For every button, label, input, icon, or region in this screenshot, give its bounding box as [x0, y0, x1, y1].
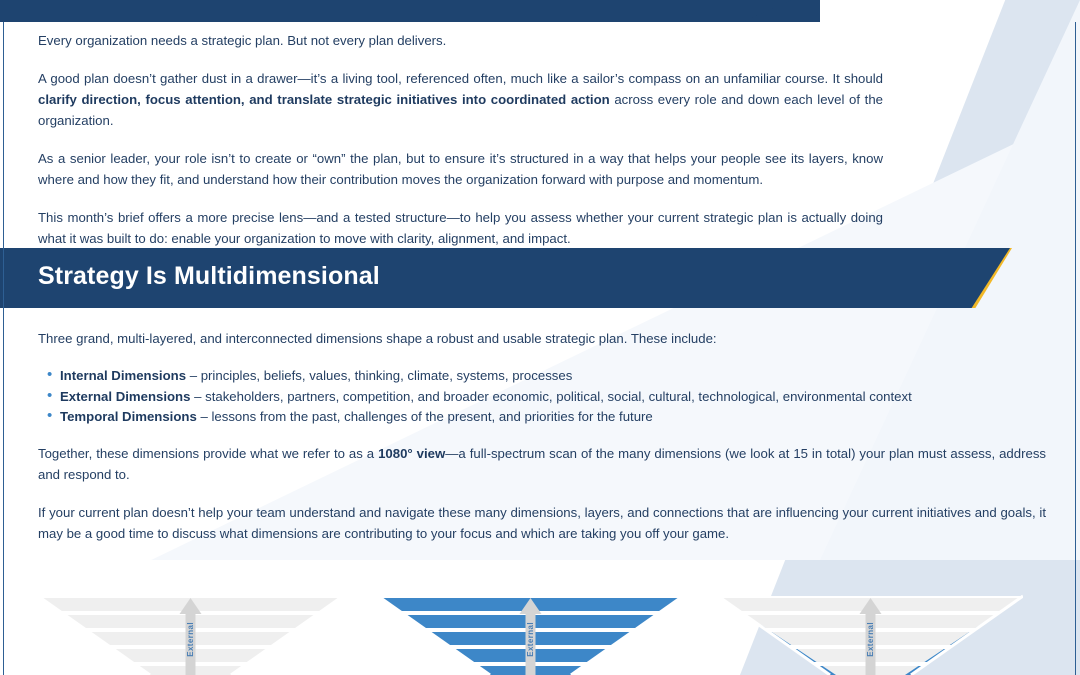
section-lead-paragraph: Three grand, multi-layered, and intercon… [38, 328, 1046, 349]
document-page: Every organization needs a strategic pla… [0, 0, 1080, 675]
dimension-item: Internal Dimensions – principles, belief… [60, 366, 1046, 386]
dimension-item: Temporal Dimensions – lessons from the p… [60, 407, 1046, 427]
emphasis-text: 1080° view [378, 446, 445, 461]
body-text: A good plan doesn’t gather dust in a dra… [38, 71, 883, 86]
dimension-detail: – lessons from the past, challenges of t… [197, 409, 653, 424]
body-text: If your current plan doesn’t help your t… [38, 505, 1046, 541]
arrow-label: External [526, 622, 535, 657]
section-title: Strategy Is Multidimensional [38, 262, 380, 291]
section-body: Three grand, multi-layered, and intercon… [38, 328, 1046, 561]
diagram-internal: External [38, 588, 343, 675]
diagram-layers: External [378, 588, 683, 675]
dimension-label: Internal Dimensions [60, 368, 186, 383]
arrow-label: External [186, 622, 195, 657]
paragraph: As a senior leader, your role isn’t to c… [38, 148, 883, 190]
intro-copy: Every organization needs a strategic pla… [38, 30, 883, 249]
section-closing-copy: Together, these dimensions provide what … [38, 443, 1046, 544]
paragraph: If your current plan doesn’t help your t… [38, 502, 1046, 544]
dimension-detail: – stakeholders, partners, competition, a… [190, 389, 911, 404]
body-text: Together, these dimensions provide what … [38, 446, 378, 461]
arrow-label: External [866, 622, 875, 657]
body-text: As a senior leader, your role isn’t to c… [38, 151, 883, 187]
diagram-wedges: External [718, 588, 1023, 675]
paragraph: A good plan doesn’t gather dust in a dra… [38, 68, 883, 131]
dimension-detail: – principles, beliefs, values, thinking,… [186, 368, 572, 383]
paragraph: Together, these dimensions provide what … [38, 443, 1046, 485]
paragraph: This month’s brief offers a more precise… [38, 207, 883, 249]
body-text: This month’s brief offers a more precise… [38, 210, 883, 246]
emphasis-text: clarify direction, focus attention, and … [38, 92, 610, 107]
body-text: Three grand, multi-layered, and intercon… [38, 331, 717, 346]
diagram-row: ExternalExternalExternal [0, 588, 1080, 675]
top-band [0, 0, 820, 22]
paragraph: Every organization needs a strategic pla… [38, 30, 883, 51]
dimensions-list: Internal Dimensions – principles, belief… [38, 366, 1046, 427]
dimension-label: Temporal Dimensions [60, 409, 197, 424]
dimension-item: External Dimensions – stakeholders, part… [60, 387, 1046, 407]
section-header-band: Strategy Is Multidimensional [0, 248, 1010, 308]
dimension-label: External Dimensions [60, 389, 190, 404]
body-text: Every organization needs a strategic pla… [38, 33, 446, 48]
